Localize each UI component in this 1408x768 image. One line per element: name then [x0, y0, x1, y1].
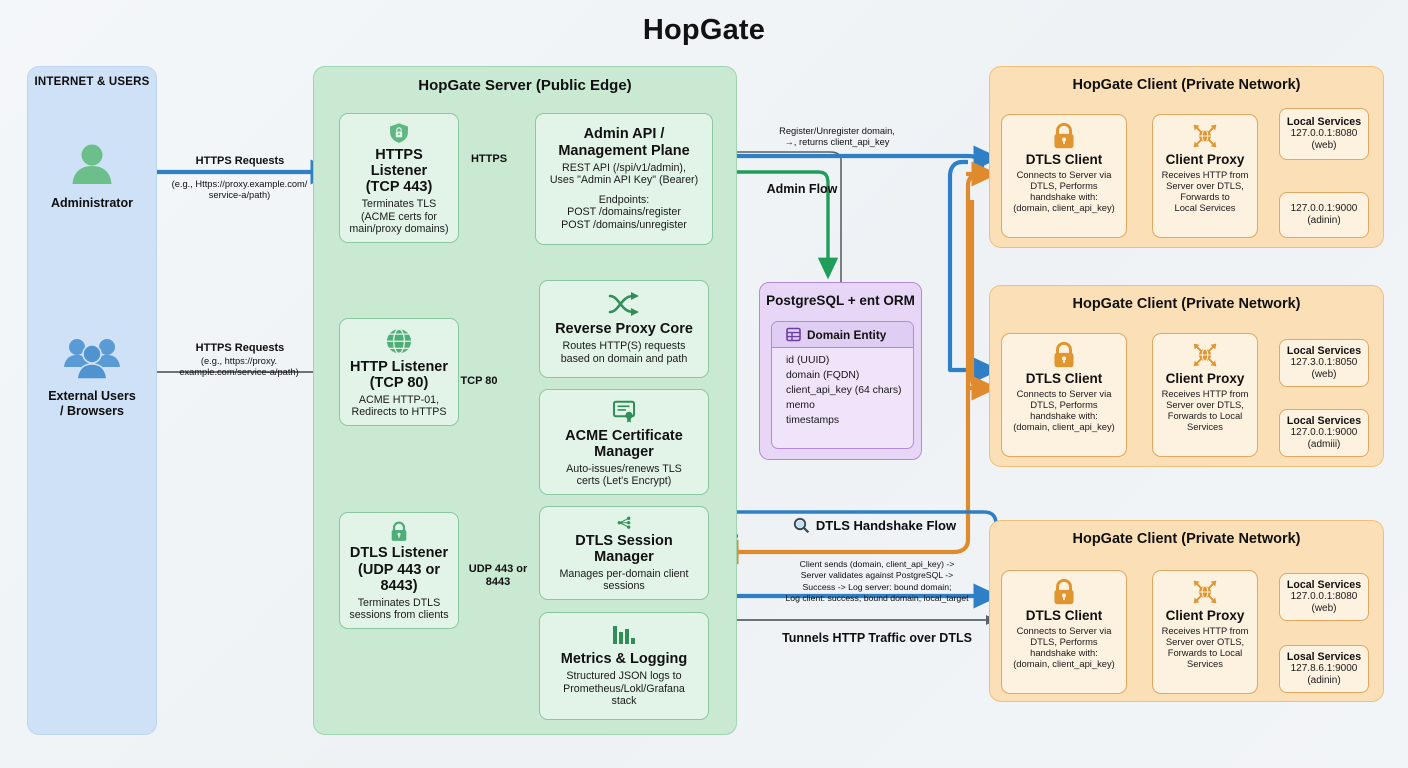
node-dtls-session-manager-title: DTLS Session Manager: [546, 533, 702, 565]
node-dtls-client-2-title: DTLS Client: [1026, 371, 1103, 386]
handshake-flow-header: DTLS Handshake Flow: [762, 517, 987, 534]
node-local-service-2b[interactable]: Local Services 127.0.0.1:9000 (admiii): [1279, 409, 1369, 457]
node-acme-cert-manager-title: ACME Certificate Manager: [565, 428, 683, 460]
actor-administrator-label: Administrator: [51, 196, 133, 211]
local-service-3b-title: Losal Services: [1287, 651, 1361, 663]
node-client-proxy-2[interactable]: Client Proxy Receives HTTP from Server o…: [1152, 333, 1258, 457]
node-postgresql-database[interactable]: PostgreSQL + ent ORM Domain Entity id (U…: [759, 282, 922, 460]
actor-external-users-label: External Users / Browsers: [48, 389, 136, 419]
node-admin-api-title: Admin API / Management Plane: [558, 126, 689, 158]
edge-label-udp: UDP 443 or 8443: [462, 563, 534, 589]
domain-entity-title: Domain Entity: [807, 328, 886, 342]
network-globe-icon: [1191, 341, 1219, 369]
local-service-3b-sub: 127.8.6.1:9000 (adinin): [1291, 663, 1358, 687]
node-dtls-client-2[interactable]: DTLS Client Connects to Server via DTLS,…: [1001, 333, 1127, 457]
node-http-listener[interactable]: HTTP Listener (TCP 80) ACME HTTP-01, Red…: [339, 318, 459, 426]
node-dtls-client-1-title: DTLS Client: [1026, 152, 1103, 167]
node-dtls-session-manager[interactable]: DTLS Session Manager Manages per-domain …: [539, 506, 709, 600]
shield-lock-icon: [382, 122, 416, 144]
edge-label-users-https-detail: (e.g., https://proxy. example.com/servic…: [148, 356, 330, 378]
node-dtls-listener-title: DTLS Listener (UDP 443 or 8443): [346, 545, 452, 594]
local-service-1a-title: Local Services: [1287, 116, 1361, 128]
node-client-proxy-3[interactable]: Client Proxy Receives HTTP from Server o…: [1152, 570, 1258, 694]
node-dtls-client-1-sub: Connects to Server via DTLS, Performs ha…: [1013, 169, 1115, 213]
node-http-listener-sub: ACME HTTP-01, Redirects to HTTPS: [351, 394, 446, 419]
network-globe-icon: [1191, 122, 1219, 150]
node-https-listener-sub: Terminates TLS (ACME certs for main/prox…: [349, 198, 448, 236]
node-reverse-proxy-core-sub: Routes HTTP(S) requests based on domain …: [561, 340, 688, 365]
node-metrics-logging[interactable]: Metrics & Logging Structured JSON logs t…: [539, 612, 709, 720]
table-icon: [786, 327, 801, 342]
node-local-service-3a[interactable]: Local Services 127.0.0.1:8080 (web): [1279, 573, 1369, 621]
globe-icon: [383, 327, 415, 356]
edge-label-admin-flow: Admin Flow: [742, 182, 862, 197]
local-service-2b-sub: 127.0.0.1:9000 (admiii): [1291, 427, 1358, 451]
node-client-proxy-1-sub: Receives HTTP from Server over DTLS, For…: [1162, 169, 1249, 213]
edge-label-register-unregister: Register/Unregister domain, →, returns c…: [742, 126, 932, 148]
handshake-flow-detail: Client sends (domain, client_api_key) ->…: [738, 559, 1016, 605]
zone-client-2-title: HopGate Client (Private Network): [990, 296, 1383, 312]
node-acme-cert-manager-sub: Auto-issues/renews TLS certs (Let's Encr…: [566, 463, 682, 488]
entity-field: timestamps: [786, 414, 913, 429]
db-title: PostgreSQL + ent ORM: [760, 293, 921, 308]
node-client-proxy-1-title: Client Proxy: [1166, 152, 1245, 167]
zone-client-3-title: HopGate Client (Private Network): [990, 531, 1383, 547]
node-admin-api[interactable]: Admin API / Management Plane REST API (/…: [535, 113, 713, 245]
node-dtls-listener-sub: Terminates DTLS sessions from clients: [349, 597, 448, 622]
local-service-2a-title: Local Services: [1287, 345, 1361, 357]
zone-server-title: HopGate Server (Public Edge): [314, 77, 736, 94]
padlock-icon: [1051, 122, 1077, 150]
entity-field: client_api_key (64 chars): [786, 384, 913, 399]
node-reverse-proxy-core[interactable]: Reverse Proxy Core Routes HTTP(S) reques…: [539, 280, 709, 378]
actor-external-users: External Users / Browsers: [42, 335, 142, 419]
edge-label-admin-https-detail: (e.g., Https://proxy.example.com/ servic…: [152, 179, 327, 201]
local-service-2b-title: Local Services: [1287, 415, 1361, 427]
edge-label-tcp80: TCP 80: [453, 375, 505, 388]
padlock-icon: [1051, 341, 1077, 369]
node-metrics-logging-title: Metrics & Logging: [561, 651, 687, 667]
zone-client-1-title: HopGate Client (Private Network): [990, 77, 1383, 93]
node-client-proxy-2-sub: Receives HTTP from Server over DTLS, For…: [1162, 388, 1249, 432]
local-service-3a-sub: 127.0.0.1:8080 (web): [1291, 591, 1358, 615]
node-metrics-logging-sub: Structured JSON logs to Prometheus/Lokl/…: [563, 670, 685, 708]
zone-internet-title: INTERNET & USERS: [28, 76, 156, 88]
padlock-icon: [1051, 578, 1077, 606]
node-local-service-1a[interactable]: Local Services 127.0.0.1:8080 (web): [1279, 108, 1369, 160]
node-client-proxy-3-sub: Receives HTTP from Server over OTLS, For…: [1162, 625, 1249, 669]
network-globe-icon: [1191, 578, 1219, 606]
shuffle-icon: [607, 290, 641, 318]
single-user-icon: [67, 140, 117, 190]
bar-chart-icon: [610, 622, 638, 648]
actor-administrator: Administrator: [47, 140, 137, 211]
entity-field: domain (FQDN): [786, 369, 913, 384]
node-dtls-client-1[interactable]: DTLS Client Connects to Server via DTLS,…: [1001, 114, 1127, 238]
node-http-listener-title: HTTP Listener (TCP 80): [350, 359, 448, 391]
node-local-service-2a[interactable]: Local Services 127.3.0.1:8050 (web): [1279, 339, 1369, 387]
domain-entity-card: Domain Entity id (UUID) domain (FQDN) cl…: [771, 321, 914, 449]
edge-label-admin-https: HTTPS Requests: [160, 155, 320, 168]
node-dtls-client-3-title: DTLS Client: [1026, 608, 1103, 623]
node-local-service-3b[interactable]: Losal Services 127.8.6.1:9000 (adinin): [1279, 645, 1369, 693]
share-nodes-icon: [609, 516, 639, 530]
node-client-proxy-1[interactable]: Client Proxy Receives HTTP from Server o…: [1152, 114, 1258, 238]
node-https-listener-title: HTTPS Listener (TCP 443): [346, 147, 452, 196]
node-admin-api-endpoints: Endpoints: POST /domains/register POST /…: [561, 194, 687, 232]
edge-label-users-https: HTTPS Requests: [160, 342, 320, 355]
node-acme-cert-manager[interactable]: ACME Certificate Manager Auto-issues/ren…: [539, 389, 709, 495]
padlock-icon: [384, 521, 414, 542]
node-dtls-client-3-sub: Connects to Server via DTLS, Performs ha…: [1013, 625, 1115, 669]
edge-label-tunnels: Tunnels HTTP Traffic over DTLS: [740, 631, 1014, 646]
node-reverse-proxy-core-title: Reverse Proxy Core: [555, 321, 693, 337]
local-service-1b-sub: 127.0.0.1:9000 (adinin): [1291, 203, 1358, 227]
node-client-proxy-2-title: Client Proxy: [1166, 371, 1245, 386]
node-dtls-client-3[interactable]: DTLS Client Connects to Server via DTLS,…: [1001, 570, 1127, 694]
node-admin-api-sub: REST API (/spi/v1/admin), Uses "Admin AP…: [550, 162, 698, 187]
local-service-3a-title: Local Services: [1287, 579, 1361, 591]
node-dtls-client-2-sub: Connects to Server via DTLS, Performs ha…: [1013, 388, 1115, 432]
magnifier-icon: [793, 517, 810, 534]
entity-field: id (UUID): [786, 354, 913, 369]
certificate-icon: [610, 399, 638, 425]
node-dtls-listener[interactable]: DTLS Listener (UDP 443 or 8443) Terminat…: [339, 512, 459, 629]
local-service-2a-sub: 127.3.0.1:8050 (web): [1291, 357, 1358, 381]
node-https-listener[interactable]: HTTPS Listener (TCP 443) Terminates TLS …: [339, 113, 459, 243]
local-service-1a-sub: 127.0.0.1:8080 (web): [1291, 128, 1358, 152]
handshake-flow-label: DTLS Handshake Flow: [816, 518, 956, 533]
entity-field: memo: [786, 399, 913, 414]
page-title: HopGate: [0, 14, 1408, 47]
group-users-icon: [62, 335, 122, 383]
node-client-proxy-3-title: Client Proxy: [1166, 608, 1245, 623]
node-local-service-1b[interactable]: 127.0.0.1:9000 (adinin): [1279, 192, 1369, 238]
node-dtls-session-manager-sub: Manages per-domain client sessions: [560, 568, 689, 593]
edge-label-https: HTTPS: [458, 153, 520, 166]
